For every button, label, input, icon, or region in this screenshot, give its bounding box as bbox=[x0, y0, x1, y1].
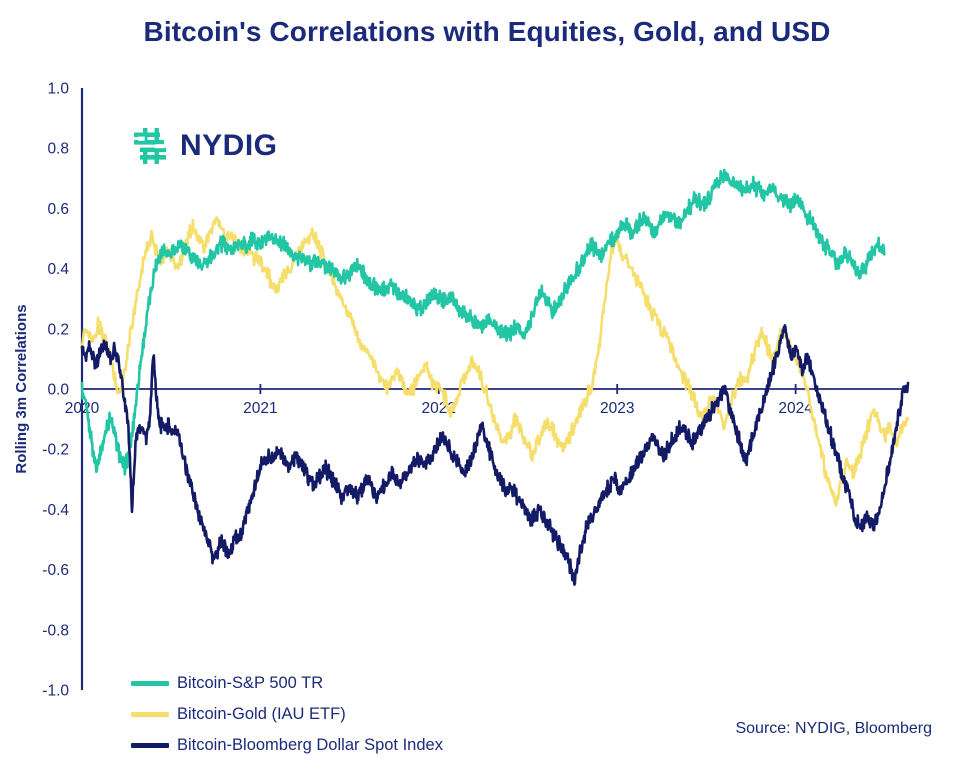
x-tick-label: 2024 bbox=[778, 400, 813, 417]
series-lines bbox=[82, 170, 908, 585]
nydig-mark-icon bbox=[130, 126, 170, 166]
legend-swatch-dollar bbox=[131, 743, 169, 748]
x-tick-label: 2021 bbox=[243, 400, 277, 417]
y-tick-label: 0.2 bbox=[47, 321, 69, 338]
legend-label-dollar: Bitcoin-Bloomberg Dollar Spot Index bbox=[177, 736, 443, 755]
legend-swatch-sp500 bbox=[131, 681, 169, 686]
chart-page: Bitcoin's Correlations with Equities, Go… bbox=[0, 0, 974, 772]
correlation-line-chart: 1.00.80.60.40.20.0-0.2-0.4-0.6-0.8-1.0 2… bbox=[0, 0, 974, 772]
legend-label-gold: Bitcoin-Gold (IAU ETF) bbox=[177, 705, 346, 724]
source-attribution: Source: NYDIG, Bloomberg bbox=[735, 720, 932, 738]
y-axis: 1.00.80.60.40.20.0-0.2-0.4-0.6-0.8-1.0 bbox=[42, 81, 82, 700]
legend-item-dollar[interactable]: Bitcoin-Bloomberg Dollar Spot Index bbox=[131, 734, 443, 756]
y-tick-label: -0.8 bbox=[42, 622, 69, 639]
y-tick-label: -0.4 bbox=[42, 502, 69, 519]
y-tick-label: -0.6 bbox=[42, 562, 69, 579]
y-axis-label: Rolling 3m Correlations bbox=[13, 304, 30, 473]
legend-item-sp500[interactable]: Bitcoin-S&P 500 TR bbox=[131, 672, 443, 694]
nydig-wordmark: NYDIG bbox=[180, 129, 278, 163]
y-tick-label: 0.6 bbox=[47, 201, 69, 218]
series-line bbox=[82, 325, 908, 584]
y-tick-label: 1.0 bbox=[47, 81, 69, 98]
x-tick-label: 2020 bbox=[65, 400, 100, 417]
y-axis-title: Rolling 3m Correlations bbox=[13, 304, 30, 473]
nydig-logo: NYDIG bbox=[130, 126, 278, 166]
legend-label-sp500: Bitcoin-S&P 500 TR bbox=[177, 674, 323, 693]
y-tick-label: -0.2 bbox=[42, 442, 69, 459]
y-tick-label: 0.0 bbox=[47, 382, 69, 399]
chart-legend: Bitcoin-S&P 500 TR Bitcoin-Gold (IAU ETF… bbox=[131, 672, 443, 756]
y-tick-label: -1.0 bbox=[42, 683, 69, 700]
legend-swatch-gold bbox=[131, 712, 169, 717]
y-tick-label: 0.4 bbox=[47, 261, 69, 278]
legend-item-gold[interactable]: Bitcoin-Gold (IAU ETF) bbox=[131, 703, 443, 725]
x-tick-label: 2023 bbox=[600, 400, 634, 417]
y-tick-label: 0.8 bbox=[47, 141, 69, 158]
